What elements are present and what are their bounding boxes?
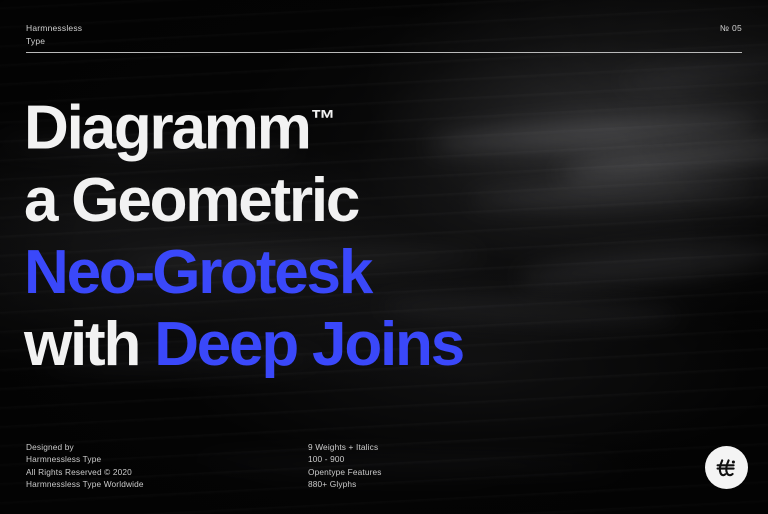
headline-line-3-grotesk: Grotesk [152,238,371,307]
issue-number: № 05 [720,22,742,35]
headline-line-4: with Deep Joins [24,309,463,381]
poster: Harmnessless Type № 05 Diagramm™ a Geome… [0,0,768,514]
headline-line-3-neo: Neo [24,238,135,307]
footer-specs: 9 Weights + Italics 100 - 900 Opentype F… [308,441,742,490]
headline-line-2: a Geometric [24,165,463,237]
footer-credits: Designed by Harmnessless Type All Rights… [26,441,308,490]
brand-name: Harmnessless Type [26,22,82,47]
logo-badge [705,446,748,489]
headline-line-3: Neo-Grotesk [24,237,463,309]
harmnessless-monogram-icon [713,454,741,482]
header: Harmnessless Type № 05 [26,22,742,47]
headline-line-4-white: with [24,310,139,379]
headline-line-4-blue: Deep Joins [154,310,463,379]
headline-line-3-hyphen: - [135,238,153,307]
headline-line-1: Diagramm™ [24,84,463,165]
headline-line-1-text: Diagramm [24,94,310,163]
trademark-mark: ™ [311,106,335,133]
header-divider [26,52,742,53]
footer: Designed by Harmnessless Type All Rights… [26,441,742,490]
headline: Diagramm™ a Geometric Neo-Grotesk with D… [24,84,463,381]
